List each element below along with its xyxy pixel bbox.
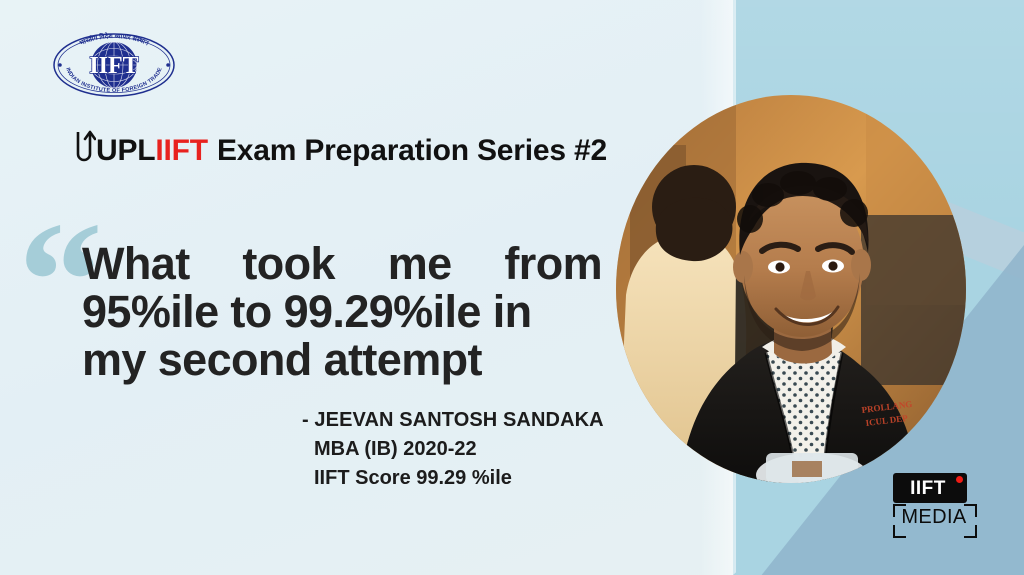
media-badge-plate: IIFT — [893, 473, 967, 503]
student-portrait: PROLLANG ICUL DEP — [616, 95, 966, 483]
series-title-rest: Exam Preparation Series #2 — [217, 134, 607, 168]
quote-line-2: 95%ile to 99.29%ile in — [82, 288, 602, 336]
iift-media-logo: IIFT MEDIA — [893, 473, 975, 541]
attribution-block: - JEEVAN SANTOSH SANDAKA MBA (IB) 2020-2… — [302, 406, 604, 493]
attribution-score: IIFT Score 99.29 %ile — [314, 464, 604, 493]
svg-text:IIFT: IIFT — [89, 53, 138, 79]
up-arrow-icon — [72, 130, 96, 168]
poster-canvas: IIFT भारतीय विदेश व्यापार संस्थान INDIAN… — [0, 0, 1024, 575]
attribution-name: - JEEVAN SANTOSH SANDAKA — [302, 406, 604, 435]
iift-institute-logo: IIFT भारतीय विदेश व्यापार संस्थान INDIAN… — [52, 30, 176, 100]
record-dot-icon — [956, 476, 963, 483]
quote-line-3: my second attempt — [82, 336, 602, 384]
attribution-program: MBA (IB) 2020-22 — [314, 435, 604, 464]
media-badge-word: MEDIA — [896, 507, 972, 527]
series-title: UPL IIFT Exam Preparation Series #2 — [72, 130, 607, 168]
quote-headline: What took me from 95%ile to 99.29%ile in… — [82, 240, 602, 384]
series-title-prefix: UPL — [96, 134, 155, 168]
media-badge-iift-text: IIFT — [910, 479, 946, 498]
quote-line-1: What took me from — [82, 240, 602, 288]
series-title-highlight: IIFT — [155, 134, 208, 168]
